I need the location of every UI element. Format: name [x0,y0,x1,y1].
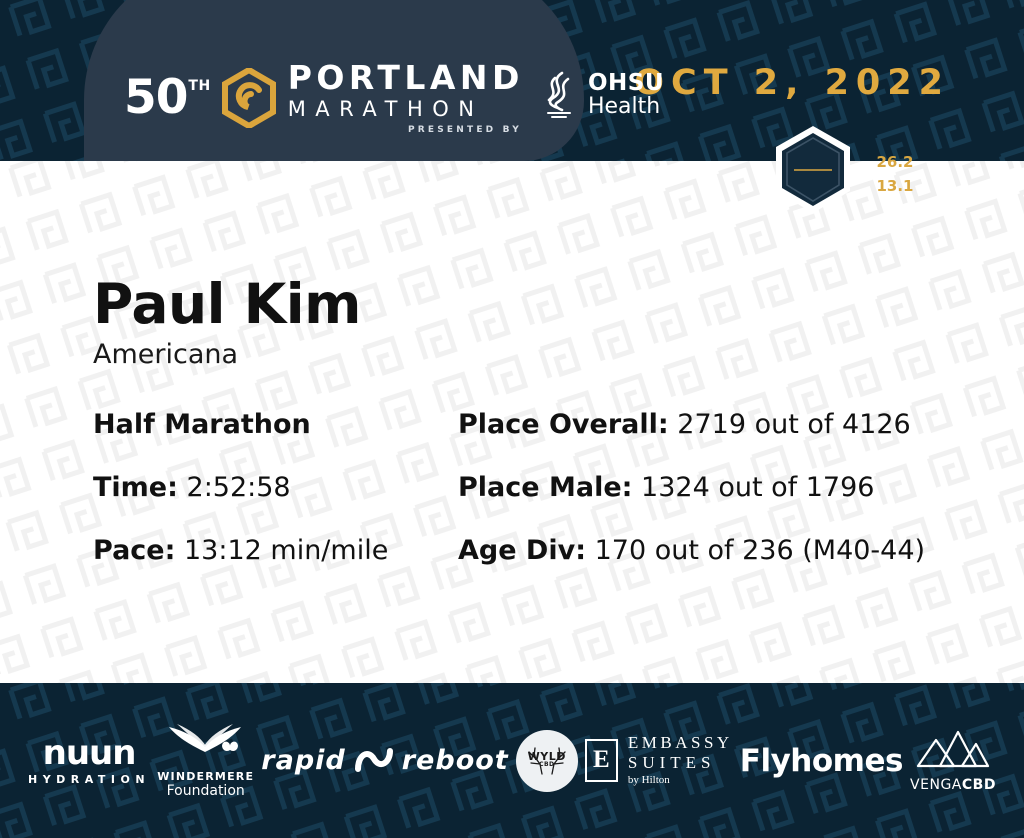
ohsu-flame-icon [538,69,580,121]
pace-label: Pace: [93,535,175,566]
ohsu-health-label: Health [588,96,664,118]
race-date: OCT 2, 2022 [634,63,950,103]
venga-name: VENGACBD [910,777,996,793]
wyld-circle-badge: WYLD CBD [516,730,578,792]
ohsu-name: OHSU [588,72,664,95]
hexagon-spiral-icon [221,68,277,128]
header-band: 50 TH PORTLAND MARATHON PRESENTED BY [0,0,1024,161]
venga-cbd-word: CBD [962,777,996,793]
anniversary-number: 50 [124,76,187,119]
badge-half-distance: 13.1 [854,177,936,195]
wyld-sub: CBD [516,761,578,768]
stat-row-place-male: Place Male: 1324 out of 1796 [458,473,973,503]
nuun-tagline: HYDRATION [28,773,150,786]
time-label: Time: [93,472,178,503]
sponsor-logo-flyhomes[interactable]: Flyhomes [740,743,903,779]
age-div-label: Age Div: [458,535,586,566]
results-content: Paul Kim Americana Half Marathon Time: 2… [93,277,973,567]
event-logo-lockup: 50 TH PORTLAND MARATHON PRESENTED BY [124,62,664,134]
time-value: 2:52:58 [187,472,291,503]
wings-icon [167,722,245,762]
sponsor-logo-venga-cbd[interactable]: VENGACBD [910,728,996,793]
embassy-line1: EMBASSY [628,733,733,753]
place-male-value: 1324 out of 1796 [641,472,874,503]
distance-badge: 26.2 13.1 [772,124,854,216]
place-overall-value: 2719 out of 4126 [677,409,910,440]
results-body: Paul Kim Americana Half Marathon Time: 2… [0,161,1024,683]
anniversary-badge: 50 TH [124,76,211,119]
sponsor-logo-wyld[interactable]: WYLD CBD [516,730,578,792]
runner-name: Paul Kim [93,277,973,332]
ohsu-logo: OHSU Health [538,69,664,121]
stats-grid: Half Marathon Time: 2:52:58 Pace: 13:12 … [93,410,973,567]
sponsor-logo-nuun[interactable]: nuun HYDRATION [28,736,150,786]
event-name-value: Half Marathon [93,409,311,440]
windermere-sub: Foundation [157,783,254,799]
embassy-line2: SUITES [628,753,733,773]
age-div-value: 170 out of 236 (M40-44) [595,535,925,566]
sponsor-logo-windermere[interactable]: WINDERMERE Foundation [157,722,254,799]
sponsor-logo-rapid-reboot[interactable]: rapid reboot [261,745,508,777]
rapid-reboot-mark-icon [352,745,396,777]
wordmark-portland: PORTLAND [288,61,524,94]
stat-row-age-div: Age Div: 170 out of 236 (M40-44) [458,536,973,566]
stats-column-left: Half Marathon Time: 2:52:58 Pace: 13:12 … [93,410,458,567]
sponsor-logo-embassy-suites[interactable]: E EMBASSY SUITES by Hilton [585,733,733,787]
wordmark-marathon: MARATHON [288,96,524,122]
place-overall-label: Place Overall: [458,409,669,440]
stat-row-place-overall: Place Overall: 2719 out of 4126 [458,410,973,440]
hexagon-badge-icon [772,124,854,216]
badge-marathon-distance: 26.2 [854,153,936,171]
pace-value: 13:12 min/mile [184,535,388,566]
presented-by-label: PRESENTED BY [288,125,524,135]
embassy-line3: by Hilton [628,773,733,787]
sponsor-footer: nuun HYDRATION WINDERMERE Foundation [0,683,1024,838]
stat-row-event: Half Marathon [93,410,458,440]
stats-column-right: Place Overall: 2719 out of 4126 Place Ma… [458,410,973,567]
event-wordmark: PORTLAND MARATHON PRESENTED BY [288,61,524,135]
windermere-name: WINDERMERE [157,770,254,783]
stat-row-time: Time: 2:52:58 [93,473,458,503]
rapid-reboot-word2: reboot [402,745,509,776]
stat-row-pace: Pace: 13:12 min/mile [93,536,458,566]
nuun-name: nuun [28,736,150,770]
sponsor-logos-row: nuun HYDRATION WINDERMERE Foundation [0,683,1024,838]
embassy-monogram: E [585,739,618,782]
rapid-reboot-word1: rapid [261,745,345,776]
mountains-icon [914,728,992,770]
runner-affiliation: Americana [93,339,973,370]
race-result-certificate: 50 TH PORTLAND MARATHON PRESENTED BY [0,0,1024,838]
anniversary-suffix: TH [188,78,210,94]
venga-word: VENGA [910,777,962,793]
flyhomes-name: Flyhomes [740,743,903,779]
place-male-label: Place Male: [458,472,632,503]
